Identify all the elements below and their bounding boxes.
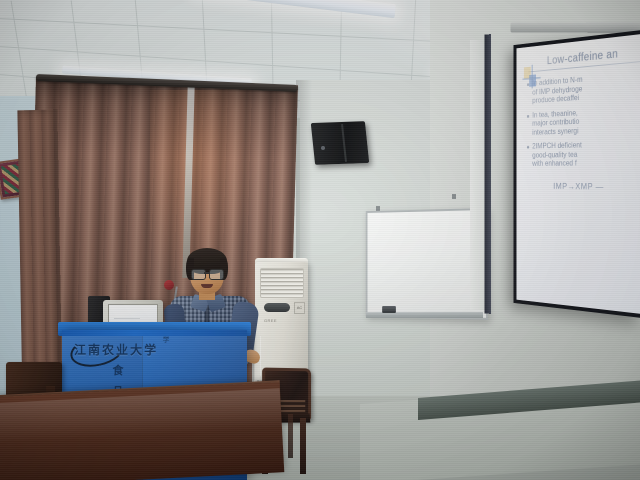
bullet-dot-icon <box>527 115 529 118</box>
chair-leg-front-right <box>300 418 306 474</box>
bullet-3-line-2: good-quality tea <box>532 150 577 159</box>
eyeglasses-bridge-icon <box>204 272 209 274</box>
slide-bullet-3: 2IMPCH deficient good-quality tea with e… <box>527 139 631 168</box>
slide-bullet-list: In addition to N-m of IMP dehydroge prod… <box>527 71 631 168</box>
slide-bullet-1: In addition to N-m of IMP dehydroge prod… <box>527 71 631 106</box>
slide-bullet-2: In tea, theanine, major contributio inte… <box>527 105 631 137</box>
projected-slide: Low-caffeine an In addition to N-m of IM… <box>516 34 640 314</box>
projection-screen-left-edge <box>485 34 491 314</box>
projection-screen-roller <box>511 22 640 33</box>
speaker-indicator-icon <box>321 146 325 150</box>
podium-char-4: 业 <box>116 341 128 358</box>
slide-formula: IMP→XMP — <box>553 181 631 191</box>
podium-university-name: 江 南 农 业 大 学 <box>74 340 166 358</box>
slide-design-logo-icon <box>524 66 541 91</box>
eyeglasses-right-lens-icon <box>209 269 224 280</box>
bullet-3-line-1: 2IMPCH deficient <box>532 141 582 151</box>
podium-seal: 学 <box>158 336 174 352</box>
projection-screen[interactable]: Low-caffeine an In addition to N-m of IM… <box>513 30 640 318</box>
bullet-2-text: In tea, theanine, major contributio inte… <box>532 108 579 137</box>
bullet-dot-icon <box>527 146 529 149</box>
bullet-3-line-3: with enhanced f <box>532 159 576 168</box>
monitor-screen-line <box>114 318 140 319</box>
wall-speaker <box>311 121 369 165</box>
podium-char-5: 大 <box>130 341 142 358</box>
podium-col-char-1: 食 <box>113 362 124 378</box>
whiteboard-clip-right <box>452 194 456 199</box>
microphone-head-icon <box>164 280 174 290</box>
eyeglasses-left-lens-icon <box>191 269 206 280</box>
bullet-3-text: 2IMPCH deficient good-quality tea with e… <box>532 141 582 168</box>
whiteboard-eraser-icon[interactable] <box>382 306 396 313</box>
podium-char-2: 南 <box>88 341 100 358</box>
podium-char-6: 学 <box>144 341 156 358</box>
bullet-1-line-3: produce decaffei <box>532 93 579 104</box>
bullet-2-line-3: interacts synergi <box>532 126 578 136</box>
chair-leg-back <box>288 414 293 458</box>
air-conditioner-badge: AC <box>294 302 305 314</box>
podium-char-3: 农 <box>102 341 114 358</box>
podium-char-1: 江 <box>74 341 86 358</box>
classroom-presentation-photo: AC GREE 江 南 农 业 <box>0 0 640 480</box>
